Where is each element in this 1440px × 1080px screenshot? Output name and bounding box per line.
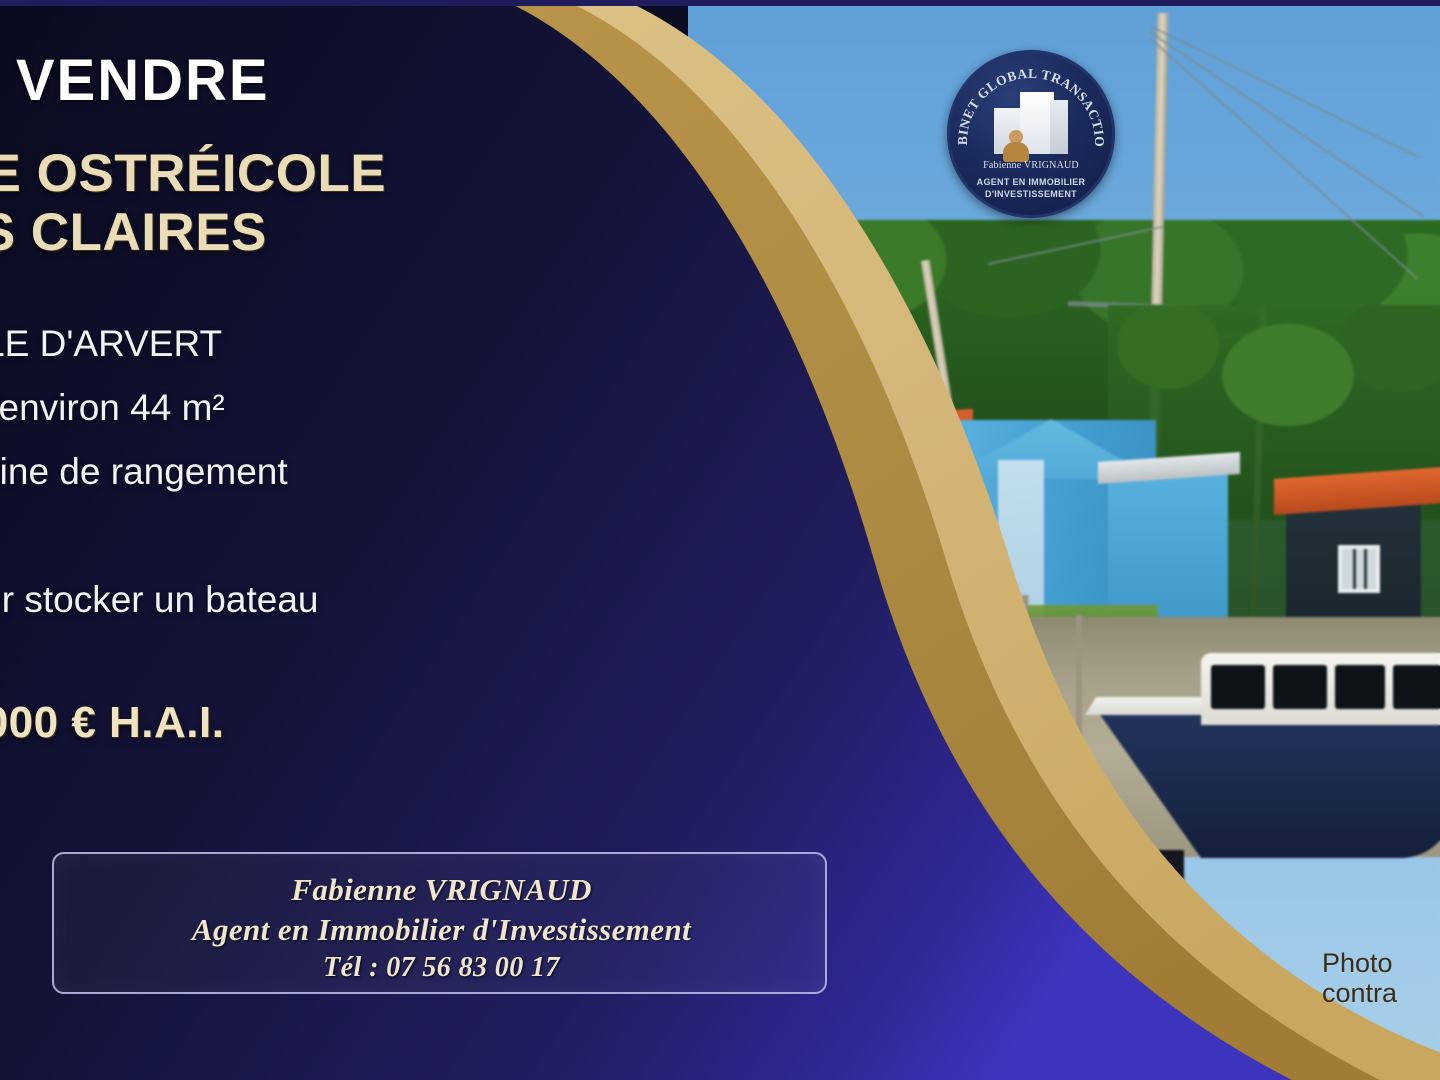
cabin-window	[1273, 665, 1327, 709]
window	[760, 513, 772, 561]
cabin-window	[1335, 665, 1385, 709]
window	[1338, 545, 1380, 593]
feature-list: U'ILE D'ARVERT e d'environ 44 m² zanine …	[0, 325, 700, 645]
list-item: U'ILE D'ARVERT	[0, 325, 700, 389]
window	[734, 513, 746, 561]
photo-disclaimer-line-2: contra	[1322, 978, 1440, 1008]
agent-role: Agent en Immobilier d'Investissement	[54, 912, 829, 948]
property-title-line-1: ANE OSTRÉICOLE	[0, 144, 386, 203]
company-logo-badge[interactable]: CABINET GLOBAL TRANSACTIONS Fabienne VRI…	[947, 50, 1115, 218]
cabin	[1201, 653, 1440, 725]
list-item: s	[0, 517, 700, 581]
photo-disclaimer: Photo contra	[1322, 948, 1440, 1008]
logo-agent-name: Fabienne VRIGNAUD	[947, 160, 1115, 171]
contact-card: Fabienne VRIGNAUD Agent en Immobilier d'…	[52, 852, 827, 994]
logo-role-line-2: D'INVESTISSEMENT	[947, 189, 1115, 199]
cabin-window	[1211, 665, 1265, 709]
window	[794, 511, 808, 561]
price-label: 1.000 € H.A.I.	[0, 698, 224, 748]
door	[826, 505, 852, 569]
property-title: ANE OSTRÉICOLE SES CLAIRES	[0, 144, 668, 263]
agent-phone[interactable]: Tél : 07 56 83 00 17	[54, 952, 829, 984]
list-item: e d'environ 44 m²	[0, 389, 700, 453]
list-item: zanine de rangement	[0, 453, 700, 517]
cabin-window	[1393, 665, 1440, 709]
oyster-hut-blue-left	[698, 457, 953, 627]
logo-role-line-1: AGENT EN IMMOBILIER	[947, 177, 1115, 187]
boat-cradle-base	[1118, 935, 1238, 953]
sign-plate	[846, 487, 866, 505]
agent-name: Fabienne VRIGNAUD	[54, 872, 829, 908]
advertisement-poster: A VENDRE ANE OSTRÉICOLE SES CLAIRES U'IL…	[0, 0, 1440, 1080]
sailboat	[1033, 625, 1440, 865]
boat-cradle	[1158, 850, 1184, 940]
list-item: pour stocker un bateau	[0, 581, 700, 645]
person-icon	[1003, 130, 1029, 160]
property-title-line-2: SES CLAIRES	[0, 203, 668, 262]
page-title: A VENDRE	[0, 52, 270, 110]
hull	[1033, 703, 1440, 858]
photo-disclaimer-line-1: Photo	[1322, 948, 1440, 978]
